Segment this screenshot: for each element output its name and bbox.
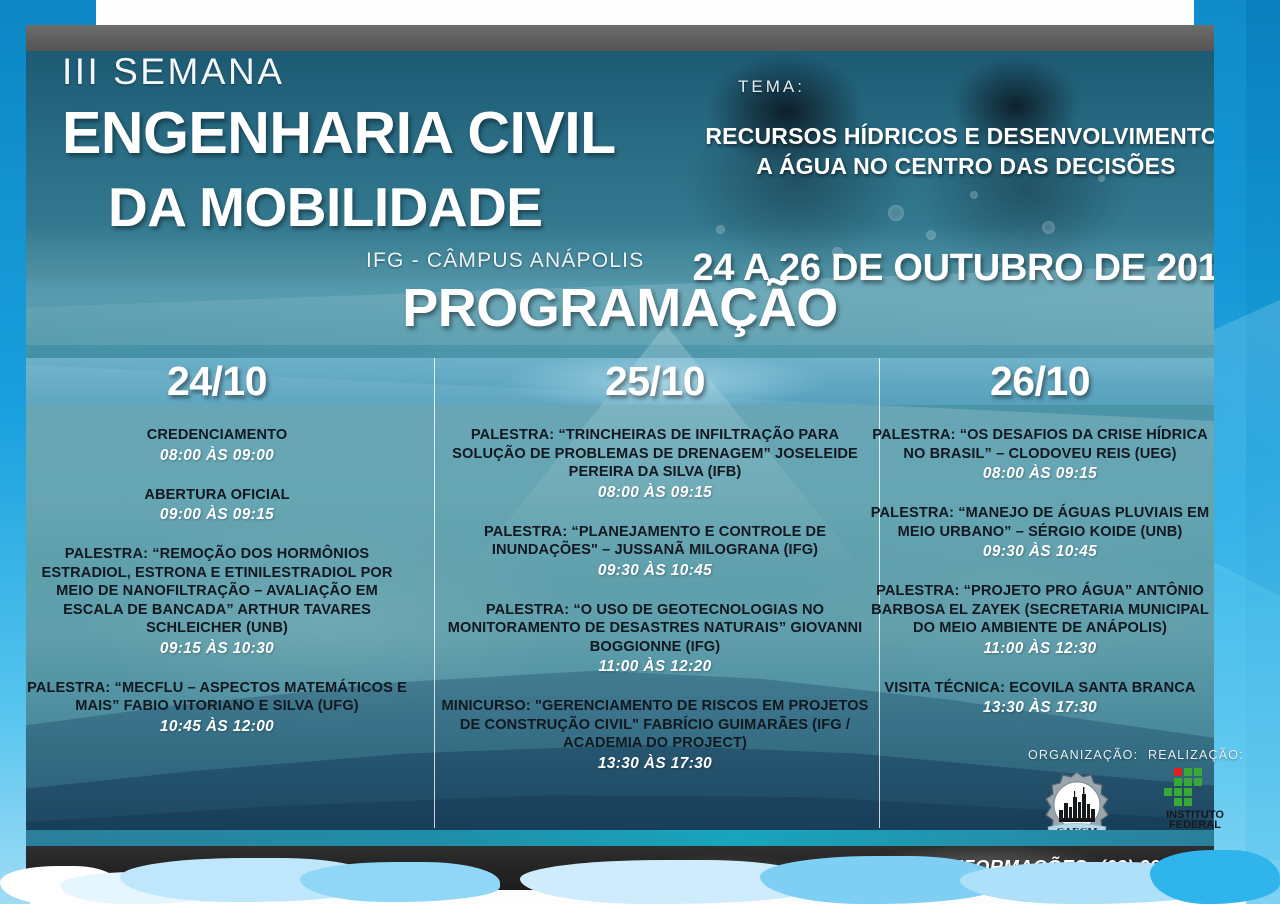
event-title: PALESTRA: “REMOÇÃO DOS HORMÔNIOS ESTRADI… <box>26 545 408 638</box>
poster-card: III SEMANA ENGENHARIA CIVIL DA MOBILIDAD… <box>26 25 1214 846</box>
event-time: 10:45 ÀS 12:00 <box>26 716 408 737</box>
top-gray-bar <box>26 25 1214 51</box>
event-time: 09:30 ÀS 10:45 <box>438 560 872 581</box>
realizacao-label: REALIZAÇÃO: <box>1148 748 1244 762</box>
if-squares-icon <box>1164 768 1202 806</box>
bubble-icon <box>888 205 904 221</box>
schedule-item: CREDENCIAMENTO 08:00 ÀS 09:00 <box>26 426 408 466</box>
event-title: PALESTRA: “TRINCHEIRAS DE INFILTRAÇÃO PA… <box>438 426 872 482</box>
event-time: 09:15 ÀS 10:30 <box>26 638 408 659</box>
event-title: ABERTURA OFICIAL <box>26 486 408 505</box>
schedule-item: VISITA TÉCNICA: ECOVILA SANTA BRANCA 13:… <box>866 679 1214 719</box>
institution-label: IFG - CÂMPUS ANÁPOLIS <box>366 249 644 273</box>
bubble-icon <box>926 230 936 240</box>
poster-title-line2: DA MOBILIDADE <box>108 175 543 239</box>
event-title: MINICURSO: "GERENCIAMENTO DE RISCOS EM P… <box>438 697 872 753</box>
event-title: PALESTRA: “PLANEJAMENTO E CONTROLE DE IN… <box>438 523 872 560</box>
theme-block: TEMA: RECURSOS HÍDRICOS E DESENVOLVIMENT… <box>666 51 1214 201</box>
column-divider <box>434 358 435 828</box>
schedule-item: PALESTRA: “REMOÇÃO DOS HORMÔNIOS ESTRADI… <box>26 545 408 659</box>
day-title: 24/10 <box>26 358 408 405</box>
event-time: 11:00 ÀS 12:20 <box>438 656 872 677</box>
schedule-item: PALESTRA: “MANEJO DE ÁGUAS PLUVIAIS EM M… <box>866 504 1214 562</box>
theme-label: TEMA: <box>738 77 805 97</box>
event-time: 13:30 ÀS 17:30 <box>866 697 1214 718</box>
schedule-item: ABERTURA OFICIAL 09:00 ÀS 09:15 <box>26 486 408 526</box>
bottom-shape <box>300 862 500 902</box>
event-time: 09:00 ÀS 09:15 <box>26 504 408 525</box>
schedule-column-25: 25/10 PALESTRA: “TRINCHEIRAS DE INFILTRA… <box>438 358 872 794</box>
event-time: 08:00 ÀS 09:15 <box>866 463 1214 484</box>
schedule-item: PALESTRA: “TRINCHEIRAS DE INFILTRAÇÃO PA… <box>438 426 872 503</box>
event-title: PALESTRA: “PROJETO PRO ÁGUA” ANTÔNIO BAR… <box>866 582 1214 638</box>
schedule-item: MINICURSO: "GERENCIAMENTO DE RISCOS EM P… <box>438 697 872 774</box>
poster-title-line1: ENGENHARIA CIVIL <box>62 99 616 167</box>
event-title: PALESTRA: “MANEJO DE ÁGUAS PLUVIAIS EM M… <box>866 504 1214 541</box>
event-title: PALESTRA: “OS DESAFIOS DA CRISE HÍDRICA … <box>866 426 1214 463</box>
edition-label: III SEMANA <box>62 51 284 93</box>
day-title: 25/10 <box>438 358 872 405</box>
schedule-item: PALESTRA: “PLANEJAMENTO E CONTROLE DE IN… <box>438 523 872 581</box>
event-title: PALESTRA: “MECFLU – ASPECTOS MATEMÁTICOS… <box>26 679 408 716</box>
page-title: PROGRAMAÇÃO <box>26 277 1214 339</box>
event-title: CREDENCIAMENTO <box>26 426 408 445</box>
schedule-column-24: 24/10 CREDENCIAMENTO 08:00 ÀS 09:00 ABER… <box>26 358 408 757</box>
bottom-shape <box>1150 850 1280 904</box>
event-time: 09:30 ÀS 10:45 <box>866 541 1214 562</box>
theme-line1: RECURSOS HÍDRICOS E DESENVOLVIMENTO: <box>666 123 1214 150</box>
event-title: VISITA TÉCNICA: ECOVILA SANTA BRANCA <box>866 679 1214 698</box>
schedule-item: PALESTRA: “MECFLU – ASPECTOS MATEMÁTICOS… <box>26 679 408 737</box>
event-time: 08:00 ÀS 09:00 <box>26 445 408 466</box>
event-title: PALESTRA: “O USO DE GEOTECNOLOGIAS NO MO… <box>438 601 872 657</box>
bubble-icon <box>716 225 725 234</box>
schedule-item: PALESTRA: “OS DESAFIOS DA CRISE HÍDRICA … <box>866 426 1214 484</box>
schedule-item: PALESTRA: “O USO DE GEOTECNOLOGIAS NO MO… <box>438 601 872 678</box>
event-time: 11:00 ÀS 12:30 <box>866 638 1214 659</box>
schedule-item: PALESTRA: “PROJETO PRO ÁGUA” ANTÔNIO BAR… <box>866 582 1214 659</box>
theme-line2: A ÁGUA NO CENTRO DAS DECISÕES <box>666 153 1214 180</box>
schedule-column-26: 26/10 PALESTRA: “OS DESAFIOS DA CRISE HÍ… <box>866 358 1214 738</box>
event-poster: III SEMANA ENGENHARIA CIVIL DA MOBILIDAD… <box>0 0 1280 904</box>
day-title: 26/10 <box>866 358 1214 405</box>
event-time: 13:30 ÀS 17:30 <box>438 753 872 774</box>
bubble-icon <box>1042 221 1055 234</box>
organizacao-label: ORGANIZAÇÃO: <box>1028 748 1138 762</box>
event-time: 08:00 ÀS 09:15 <box>438 482 872 503</box>
